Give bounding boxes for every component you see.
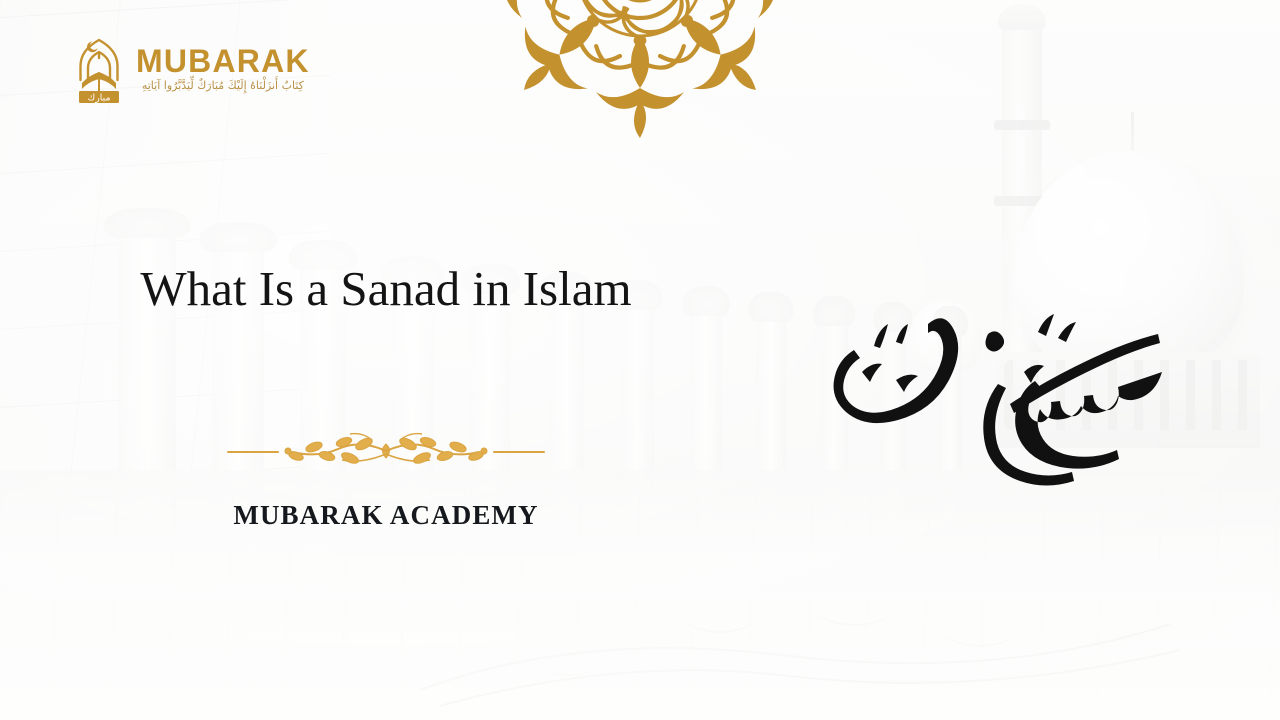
floral-divider [100,430,672,474]
page-title: What Is a Sanad in Islam [100,258,672,320]
thumbnail-canvas: مبارك MUBARAK كِتَابٌ أَنزَلْنَاهُ إِلَي… [0,0,1280,720]
brand-logo[interactable]: مبارك MUBARAK كِتَابٌ أَنزَلْنَاهُ إِلَي… [70,32,310,104]
arabic-calligraphy-sanad [810,276,1170,506]
gold-floral-divider-icon [226,432,546,472]
brand-wordmark: MUBARAK [136,45,310,77]
sanad-calligraphy-icon [810,276,1170,506]
mosque-book-emblem-icon: مبارك [70,32,128,104]
brand-arabic-tagline: كِتَابٌ أَنزَلْنَاهُ إِلَيْكَ مُبَارَكٌ … [136,80,310,91]
mandala-ornament-icon [470,0,810,144]
svg-text:مبارك: مبارك [88,93,111,104]
brand-subtitle: MUBARAK ACADEMY [100,500,672,531]
